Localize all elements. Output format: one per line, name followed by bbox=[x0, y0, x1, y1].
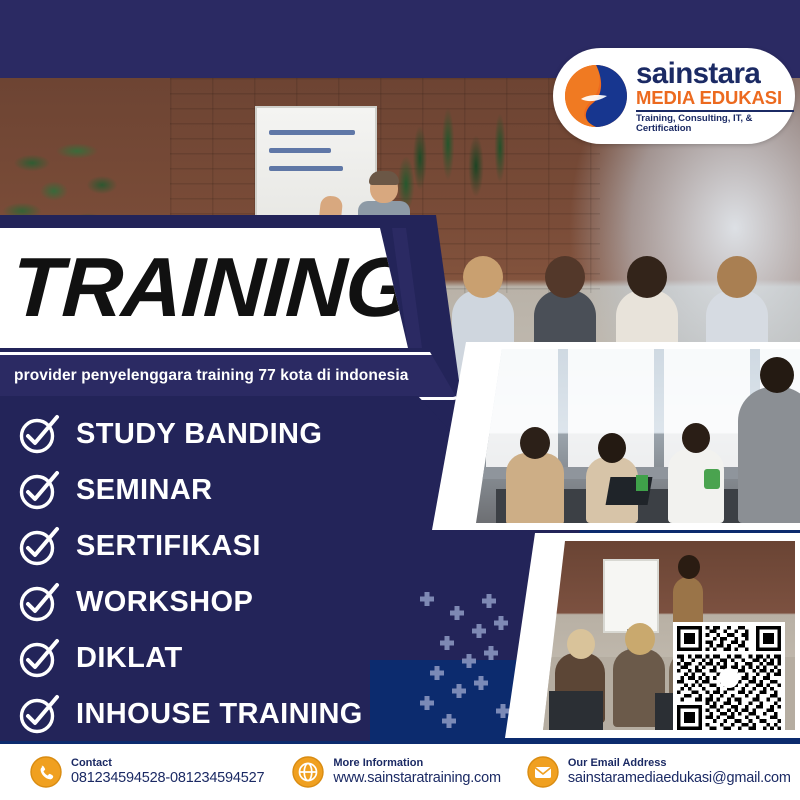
envelope-icon bbox=[527, 756, 559, 788]
footer-contact-bar: Contact 081234594528-081234594527 More I… bbox=[0, 744, 800, 800]
service-list: STUDY BANDING SEMINAR SERTIFIKASI WORKSH… bbox=[0, 406, 430, 742]
check-circle-icon bbox=[18, 413, 60, 455]
check-circle-icon bbox=[18, 525, 60, 567]
service-label: WORKSHOP bbox=[76, 586, 253, 619]
logo-tagline: Training, Consulting, IT, & Certificatio… bbox=[636, 114, 795, 133]
footer-contact-label: Contact bbox=[71, 757, 264, 770]
photo-meeting-room-image bbox=[476, 349, 800, 523]
subtitle-bar: provider penyelenggara training 77 kota … bbox=[0, 352, 461, 400]
footer-email-value: sainstaramediaedukasi@gmail.com bbox=[568, 770, 791, 787]
phone-icon bbox=[30, 756, 62, 788]
service-item-workshop[interactable]: WORKSHOP bbox=[18, 574, 430, 630]
qr-center-logo-icon bbox=[718, 667, 740, 689]
service-item-study-banding[interactable]: STUDY BANDING bbox=[18, 406, 430, 462]
service-label: SEMINAR bbox=[76, 474, 213, 507]
logo-name: sainstara bbox=[636, 59, 795, 89]
footer-email-label: Our Email Address bbox=[568, 757, 791, 770]
logo-subtitle: MEDIA EDUKASI bbox=[636, 89, 795, 108]
footer-contact[interactable]: Contact 081234594528-081234594527 bbox=[30, 756, 264, 788]
service-label: DIKLAT bbox=[76, 642, 183, 675]
globe-icon bbox=[292, 756, 324, 788]
service-item-diklat[interactable]: DIKLAT bbox=[18, 630, 430, 686]
check-circle-icon bbox=[18, 581, 60, 623]
logo-divider bbox=[636, 110, 794, 112]
footer-contact-value: 081234594528-081234594527 bbox=[71, 770, 264, 787]
logo-wordmark: sainstara MEDIA EDUKASI Training, Consul… bbox=[636, 59, 795, 133]
service-label: INHOUSE TRAINING bbox=[76, 698, 363, 731]
title-banner: TRAINING bbox=[0, 228, 408, 348]
service-item-inhouse-training[interactable]: INHOUSE TRAINING bbox=[18, 686, 430, 742]
qr-code[interactable] bbox=[673, 622, 785, 734]
page-title: TRAINING bbox=[10, 250, 412, 326]
check-circle-icon bbox=[18, 693, 60, 735]
check-circle-icon bbox=[18, 469, 60, 511]
footer-more-information-value: www.sainstaratraining.com bbox=[333, 770, 500, 787]
poster: TRAINING provider penyelenggara training… bbox=[0, 0, 800, 800]
footer-more-information[interactable]: More Information www.sainstaratraining.c… bbox=[292, 756, 500, 788]
logo-badge: sainstara MEDIA EDUKASI Training, Consul… bbox=[553, 48, 795, 144]
service-label: STUDY BANDING bbox=[76, 418, 322, 451]
footer-more-information-label: More Information bbox=[333, 757, 500, 770]
service-label: SERTIFIKASI bbox=[76, 530, 261, 563]
subtitle-text: provider penyelenggara training 77 kota … bbox=[14, 367, 409, 385]
flame-circle-logo-icon bbox=[563, 63, 629, 129]
service-item-sertifikasi[interactable]: SERTIFIKASI bbox=[18, 518, 430, 574]
photo-meeting-room bbox=[432, 342, 800, 530]
footer-email[interactable]: Our Email Address sainstaramediaedukasi@… bbox=[527, 756, 791, 788]
service-item-seminar[interactable]: SEMINAR bbox=[18, 462, 430, 518]
check-circle-icon bbox=[18, 637, 60, 679]
